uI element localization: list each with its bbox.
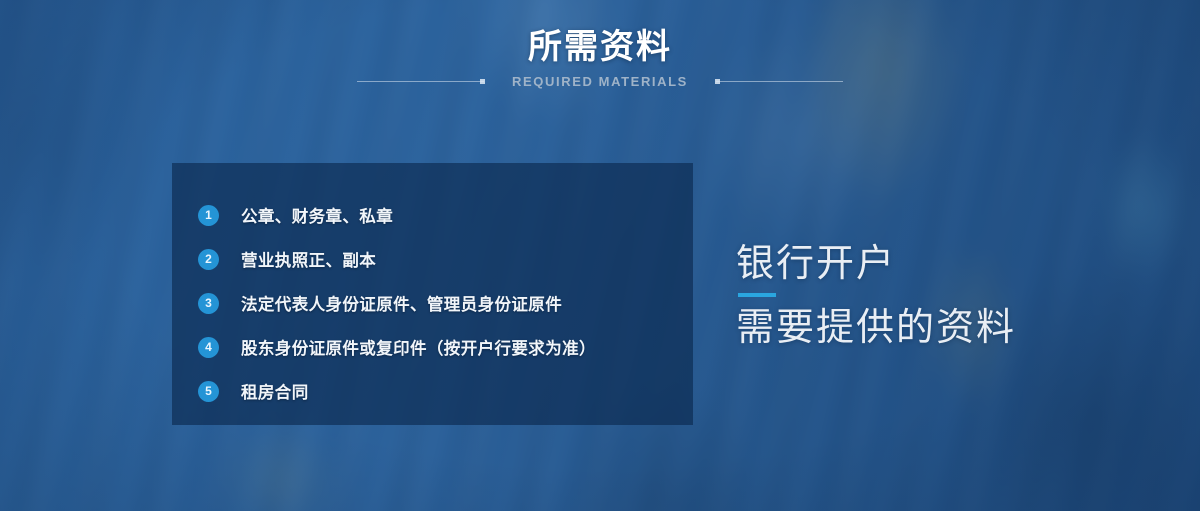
right-heading-line-2: 需要提供的资料	[736, 304, 1166, 352]
list-item: 2 营业执照正、副本	[198, 241, 681, 277]
subtitle-rule-left	[357, 81, 484, 82]
header: 所需资料 REQUIRED MATERIALS	[0, 26, 1200, 89]
list-number-badge: 3	[198, 293, 219, 314]
list-item-label: 公章、财务章、私章	[241, 203, 393, 227]
list-number-badge: 1	[198, 205, 219, 226]
right-heading: 银行开户 需要提供的资料	[736, 240, 1166, 352]
accent-bar	[738, 293, 776, 297]
list-item-label: 股东身份证原件或复印件（按开户行要求为准）	[241, 335, 596, 359]
list-number-badge: 2	[198, 249, 219, 270]
list-item: 3 法定代表人身份证原件、管理员身份证原件	[198, 285, 681, 321]
list-item-label: 营业执照正、副本	[241, 247, 376, 271]
list-number-badge: 4	[198, 337, 219, 358]
page-title: 所需资料	[0, 26, 1200, 68]
list-item: 4 股东身份证原件或复印件（按开户行要求为准）	[198, 329, 681, 365]
list-item-label: 法定代表人身份证原件、管理员身份证原件	[241, 291, 562, 315]
right-heading-line-1: 银行开户	[736, 240, 1166, 288]
banner-root: 所需资料 REQUIRED MATERIALS 1 公章、财务章、私章 2 营业…	[0, 0, 1200, 511]
page-subtitle: REQUIRED MATERIALS	[484, 74, 716, 89]
subtitle-rule-right	[716, 81, 843, 82]
list-number-badge: 5	[198, 381, 219, 402]
materials-panel: 1 公章、财务章、私章 2 营业执照正、副本 3 法定代表人身份证原件、管理员身…	[172, 163, 693, 425]
subtitle-row: REQUIRED MATERIALS	[0, 74, 1200, 89]
list-item-label: 租房合同	[241, 379, 309, 403]
materials-list: 1 公章、财务章、私章 2 营业执照正、副本 3 法定代表人身份证原件、管理员身…	[198, 197, 681, 409]
list-item: 1 公章、财务章、私章	[198, 197, 681, 233]
list-item: 5 租房合同	[198, 373, 681, 409]
